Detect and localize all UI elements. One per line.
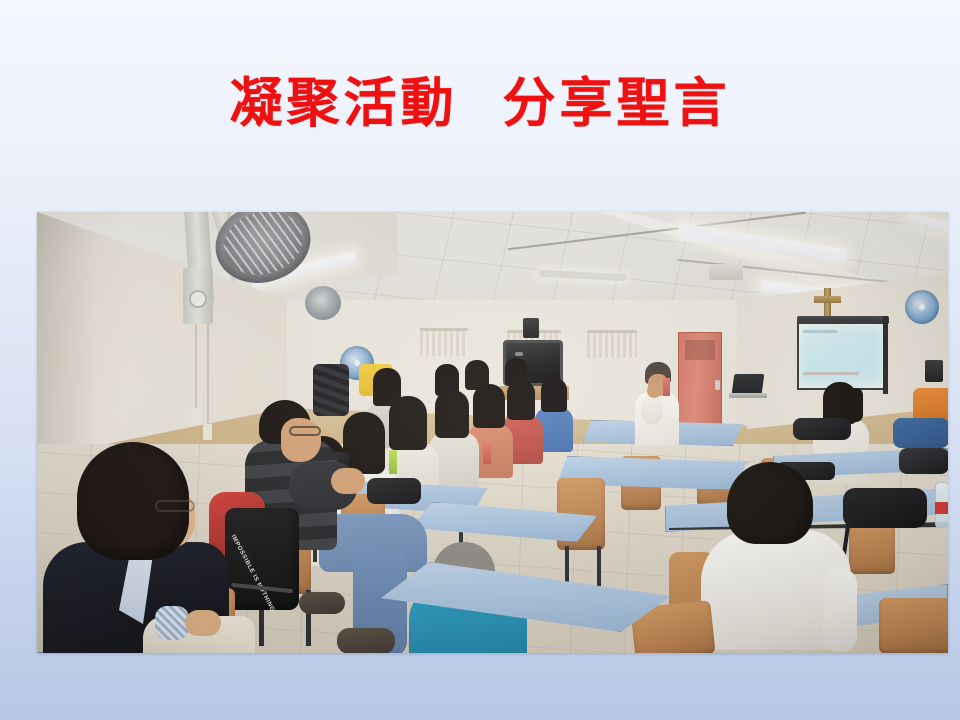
crucifix-crossbar (814, 296, 841, 303)
bag (367, 478, 421, 504)
crucifix (824, 288, 831, 318)
bag (793, 418, 851, 440)
bag (899, 448, 948, 474)
pull-cord-weight (203, 424, 212, 440)
person-face (281, 418, 321, 462)
bottle (373, 454, 382, 480)
stacked-equipment (313, 364, 349, 416)
screen-edge (883, 316, 888, 394)
bottle (483, 442, 491, 464)
door-window (685, 340, 715, 360)
wall-speaker (925, 360, 943, 382)
pull-cord-weight (191, 408, 200, 424)
person-head (473, 384, 505, 428)
person-ponytail (849, 388, 863, 422)
wall-fan-blue (905, 290, 939, 324)
wall-speaker (523, 318, 539, 338)
person-speaker-hand (647, 384, 661, 398)
bag (843, 488, 927, 528)
person-hair (727, 462, 813, 544)
pull-cord (195, 324, 197, 420)
person-shoe (337, 628, 395, 653)
bottle-label (935, 502, 948, 514)
eyeglasses (289, 426, 321, 436)
person-head (389, 396, 427, 450)
tv-reflection (515, 352, 523, 356)
eyeglasses (155, 500, 195, 512)
door-handle (715, 380, 720, 390)
person-head (435, 390, 469, 438)
slide-photo: IMPOSSIBLE IS NOTHING (37, 212, 948, 653)
laptop-base (729, 393, 767, 398)
bottle (449, 464, 458, 492)
person-head (541, 378, 567, 412)
projector-mount (709, 264, 743, 280)
person-head (507, 380, 535, 420)
person-shoe (299, 592, 345, 614)
screen-content (803, 330, 837, 333)
laptop-screen (732, 374, 765, 394)
window-curtain (587, 330, 637, 358)
screen-content (803, 372, 859, 375)
wall-fan (305, 286, 341, 320)
bottle-green (389, 450, 397, 474)
person-hand (185, 610, 221, 636)
person-cloth (155, 606, 189, 640)
person-hands (331, 468, 365, 494)
pull-cord (207, 324, 209, 436)
window-curtain (420, 328, 468, 356)
bag (893, 418, 948, 448)
page-title: 凝聚活動 分享聖言 (0, 72, 960, 134)
fan-knob (189, 290, 207, 308)
person-arm (823, 568, 857, 652)
bottle (663, 378, 670, 396)
chair (879, 598, 948, 653)
person-speaker-arm (641, 394, 663, 424)
